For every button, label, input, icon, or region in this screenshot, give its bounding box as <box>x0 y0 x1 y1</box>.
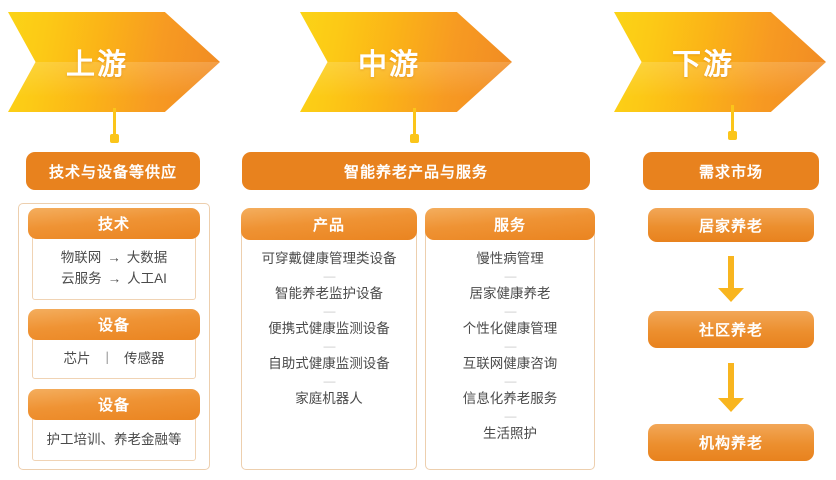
list-item: 居家健康养老 <box>470 283 551 304</box>
list-separator: — <box>505 409 516 423</box>
list-separator: — <box>505 374 516 388</box>
list-item: 自助式健康监测设备 <box>268 353 390 374</box>
list-separator: — <box>505 269 516 283</box>
connector-dot-downstream <box>728 131 737 140</box>
row-right: 传感器 <box>124 351 165 366</box>
section-pill-label-downstream: 需求市场 <box>699 161 763 182</box>
row-left: 物联网 <box>61 250 102 265</box>
row-left: 芯片 <box>64 351 91 366</box>
section-pill-downstream: 需求市场 <box>643 152 819 190</box>
card-head-upstream-equipment: 设备 <box>28 309 200 340</box>
stage-arrow-label-midstream: 中游 <box>358 41 420 83</box>
list-separator: — <box>505 304 516 318</box>
divider-glyph: 丨 <box>101 351 115 366</box>
stage-arrow-label-downstream: 下游 <box>672 41 734 83</box>
right-arrow-icon: → <box>108 271 122 286</box>
list-separator: — <box>324 304 335 318</box>
list-item: 可穿戴健康管理类设备 <box>262 248 397 269</box>
list-item: 信息化养老服务 <box>463 388 558 409</box>
section-pill-label-midstream: 智能养老产品与服务 <box>344 161 488 182</box>
card-row: 云服务→人工AI <box>61 268 167 289</box>
card-head-midstream-products: 产品 <box>241 208 417 240</box>
card-head-upstream-technology: 技术 <box>28 208 200 239</box>
row-left: 护工培训、养老金融等 <box>47 432 182 447</box>
list-item: 生活照护 <box>483 423 537 444</box>
right-arrow-icon: → <box>107 250 121 265</box>
list-separator: — <box>324 374 335 388</box>
section-pill-label-upstream: 技术与设备等供应 <box>49 161 177 182</box>
card-row: 芯片丨传感器 <box>64 348 165 369</box>
card-head-midstream-services: 服务 <box>425 208 595 240</box>
card-head-label: 设备 <box>98 394 130 415</box>
card-row: 物联网→大数据 <box>61 247 168 268</box>
row-right: 人工AI <box>127 271 167 286</box>
card-head-label: 技术 <box>98 213 130 234</box>
stage-arrow-downstream: 下游 <box>614 12 826 112</box>
demand-box-home-care: 居家养老 <box>648 208 814 242</box>
list-item: 慢性病管理 <box>476 248 544 269</box>
stage-arrow-label-upstream: 上游 <box>66 41 128 83</box>
stage-arrow-upstream: 上游 <box>8 12 220 112</box>
demand-box-label: 机构养老 <box>699 432 763 453</box>
list-separator: — <box>324 339 335 353</box>
card-body-midstream-services: 慢性病管理 — 居家健康养老 — 个性化健康管理 — 互联网健康咨询 — 信息化… <box>425 248 595 462</box>
list-separator: — <box>324 269 335 283</box>
list-item: 个性化健康管理 <box>463 318 558 339</box>
industry-chain-diagram: 上游 中游 下游 技术与设备等供应 技术 物联网→大数据 云服务→人工AI 设备… <box>0 0 836 480</box>
card-head-label: 服务 <box>494 214 526 235</box>
section-pill-midstream: 智能养老产品与服务 <box>242 152 590 190</box>
card-body-upstream-equipment: 芯片丨传感器 <box>32 337 196 379</box>
down-arrow-icon <box>718 256 744 302</box>
card-row: 护工培训、养老金融等 <box>47 429 182 450</box>
card-head-label: 设备 <box>98 314 130 335</box>
demand-box-label: 居家养老 <box>699 215 763 236</box>
demand-box-label: 社区养老 <box>699 319 763 340</box>
down-arrow-icon <box>718 363 744 413</box>
list-item: 便携式健康监测设备 <box>268 318 390 339</box>
list-separator: — <box>505 339 516 353</box>
demand-box-institutional-care: 机构养老 <box>648 424 814 461</box>
card-head-upstream-services: 设备 <box>28 389 200 420</box>
connector-dot-midstream <box>410 134 419 143</box>
card-body-midstream-products: 可穿戴健康管理类设备 — 智能养老监护设备 — 便携式健康监测设备 — 自助式健… <box>241 248 417 462</box>
connector-dot-upstream <box>110 134 119 143</box>
card-head-label: 产品 <box>313 214 345 235</box>
demand-box-community-care: 社区养老 <box>648 311 814 348</box>
stage-arrow-midstream: 中游 <box>300 12 512 112</box>
card-body-upstream-services: 护工培训、养老金融等 <box>32 417 196 461</box>
card-body-upstream-technology: 物联网→大数据 云服务→人工AI <box>32 236 196 300</box>
section-pill-upstream: 技术与设备等供应 <box>26 152 200 190</box>
row-right: 大数据 <box>127 250 168 265</box>
list-item: 家庭机器人 <box>295 388 363 409</box>
row-left: 云服务 <box>61 271 102 286</box>
list-item: 互联网健康咨询 <box>463 353 558 374</box>
list-item: 智能养老监护设备 <box>275 283 383 304</box>
